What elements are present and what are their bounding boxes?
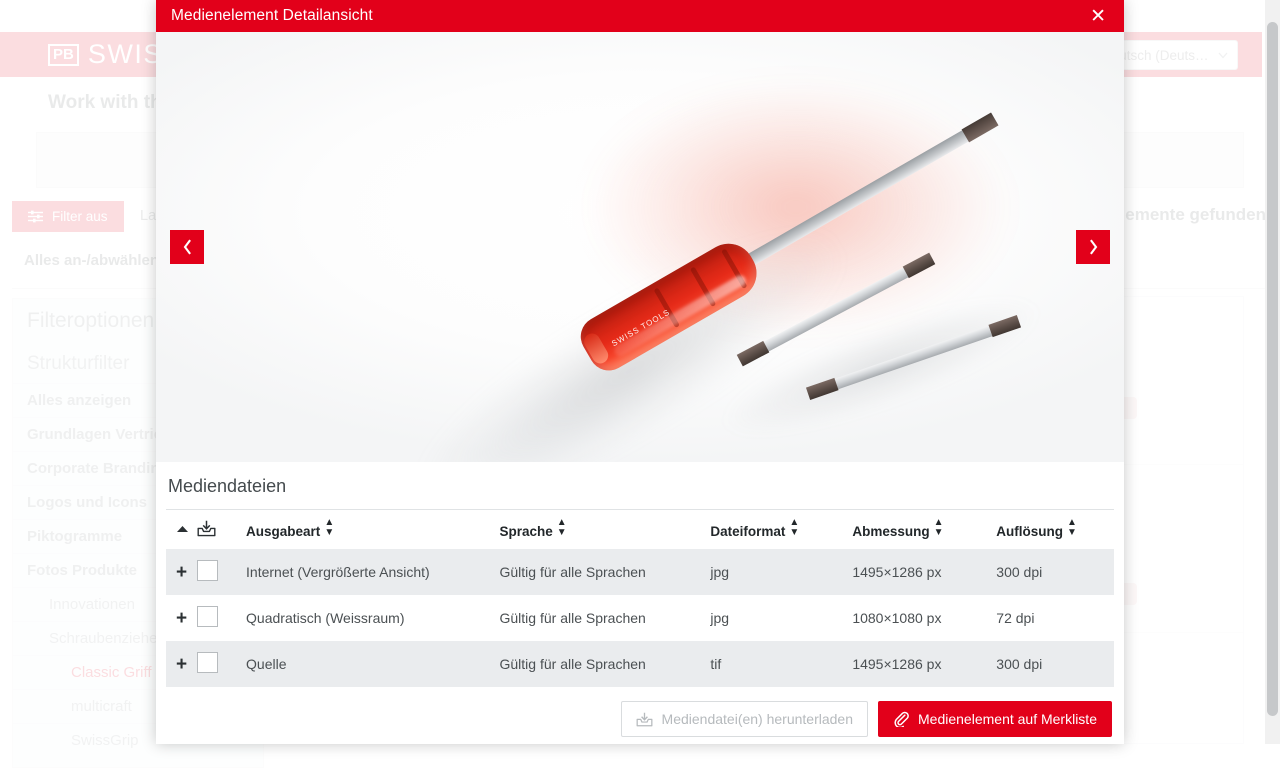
brand-logo-mark: PB — [48, 44, 79, 66]
row-checkbox-cell[interactable] — [193, 595, 242, 641]
download-tray-icon — [197, 520, 216, 537]
filter-tree-item-label: Classic Griff — [71, 664, 152, 681]
cell-abmessung: 1080×1080 px — [848, 595, 992, 641]
column-aufloesung[interactable]: Auflösung▲▼ — [992, 510, 1114, 550]
next-image-button[interactable] — [1076, 230, 1110, 264]
row-checkbox[interactable] — [197, 560, 218, 581]
expand-row-cell[interactable]: + — [166, 549, 193, 595]
sort-icon: ▲▼ — [1067, 518, 1077, 538]
filter-tree-item-label: Innovationen — [49, 596, 135, 613]
filter-tree-item-label: Corporate Branding — [27, 460, 169, 477]
media-files-section: Mediendateien — [156, 462, 1124, 744]
product-photo-illustration: SWISS TOOLS — [156, 32, 1124, 462]
column-expand[interactable] — [166, 510, 193, 550]
column-ausgabeart[interactable]: Ausgabeart▲▼ — [242, 510, 495, 550]
column-download[interactable] — [193, 510, 242, 550]
cell-abmessung: 1495×1286 px — [848, 641, 992, 687]
cell-ausgabeart: Quadratisch (Weissraum) — [242, 595, 495, 641]
table-row[interactable]: +Quadratisch (Weissraum)Gültig für alle … — [166, 595, 1114, 641]
expand-row-icon[interactable]: + — [176, 608, 187, 629]
media-image-viewer: SWISS TOOLS — [156, 32, 1124, 462]
filter-tree-item-label: SwissGrip — [71, 732, 139, 749]
filter-tree-item-label: Alles anzeigen — [27, 392, 131, 409]
cell-sprache: Gültig für alle Sprachen — [496, 549, 707, 595]
download-media-label: Mediendatei(en) herunterladen — [662, 711, 853, 727]
sliders-icon — [28, 210, 43, 223]
filter-tree-item-label: Fotos Produkte — [27, 562, 137, 579]
media-image: SWISS TOOLS — [156, 32, 1124, 462]
cell-abmessung: 1495×1286 px — [848, 549, 992, 595]
column-label: Auflösung — [996, 524, 1063, 539]
filter-tree-item-label: Piktogramme — [27, 528, 122, 545]
select-all-label: Alles an-/abwählen — [24, 252, 159, 269]
cell-aufloesung: 300 dpi — [992, 549, 1114, 595]
column-label: Dateiformat — [710, 524, 785, 539]
table-row[interactable]: +Internet (Vergrößerte Ansicht)Gültig fü… — [166, 549, 1114, 595]
sort-icon: ▲▼ — [557, 518, 567, 538]
chevron-down-icon — [1217, 49, 1229, 61]
filter-tree-item-label: multicraft — [71, 698, 132, 715]
modal-actions: Mediendatei(en) herunterladen Medienelem… — [166, 687, 1114, 737]
filter-toggle-label: Filter aus — [52, 209, 108, 224]
filter-tree-item-label: Schraubenzieher — [49, 630, 162, 647]
media-files-table: Ausgabeart▲▼ Sprache▲▼ Dateiformat▲▼ Abm… — [166, 509, 1114, 687]
cell-format: jpg — [706, 595, 848, 641]
column-dateiformat[interactable]: Dateiformat▲▼ — [706, 510, 848, 550]
download-media-button[interactable]: Mediendatei(en) herunterladen — [621, 701, 868, 737]
add-to-merkliste-label: Medienelement auf Merkliste — [918, 711, 1097, 727]
column-sprache[interactable]: Sprache▲▼ — [496, 510, 707, 550]
download-tray-icon — [636, 712, 653, 727]
cell-aufloesung: 72 dpi — [992, 595, 1114, 641]
cell-sprache: Gültig für alle Sprachen — [496, 641, 707, 687]
row-checkbox[interactable] — [197, 606, 218, 627]
table-header: Ausgabeart▲▼ Sprache▲▼ Dateiformat▲▼ Abm… — [166, 510, 1114, 550]
expand-row-cell[interactable]: + — [166, 595, 193, 641]
page-scrollbar-track[interactable] — [1265, 0, 1280, 744]
table-header-row: Ausgabeart▲▼ Sprache▲▼ Dateiformat▲▼ Abm… — [166, 510, 1114, 550]
cell-ausgabeart: Internet (Vergrößerte Ansicht) — [242, 549, 495, 595]
column-abmessung[interactable]: Abmessung▲▼ — [848, 510, 992, 550]
add-to-merkliste-button[interactable]: Medienelement auf Merkliste — [878, 701, 1112, 737]
table-row[interactable]: +QuelleGültig für alle Sprachentif1495×1… — [166, 641, 1114, 687]
paperclip-icon — [893, 711, 909, 727]
product-brand-text: SWISS TOOLS — [610, 308, 672, 349]
results-count: Elemente gefunden — [1109, 205, 1266, 225]
expand-row-icon[interactable]: + — [176, 562, 187, 583]
column-label: Ausgabeart — [246, 524, 320, 539]
prev-image-button[interactable] — [170, 230, 204, 264]
column-label: Sprache — [500, 524, 553, 539]
chevron-left-icon — [182, 239, 193, 255]
column-label: Abmessung — [852, 524, 929, 539]
sort-icon: ▲▼ — [934, 518, 944, 538]
expand-row-icon[interactable]: + — [176, 654, 187, 675]
sort-icon: ▲▼ — [324, 518, 334, 538]
sort-icon: ▲▼ — [789, 518, 799, 538]
row-checkbox[interactable] — [197, 652, 218, 673]
modal-title: Medienelement Detailansicht — [171, 7, 373, 25]
filter-tree-item-label: Grundlagen Vertrieb — [27, 426, 171, 443]
close-icon[interactable]: ✕ — [1086, 5, 1110, 28]
cell-format: jpg — [706, 549, 848, 595]
expand-row-cell[interactable]: + — [166, 641, 193, 687]
filter-toggle-button[interactable]: Filter aus — [12, 201, 124, 232]
filter-tree-item-label: Logos und Icons — [27, 494, 147, 511]
cell-aufloesung: 300 dpi — [992, 641, 1114, 687]
row-checkbox-cell[interactable] — [193, 641, 242, 687]
media-detail-modal: Medienelement Detailansicht ✕ — [156, 0, 1124, 744]
row-checkbox-cell[interactable] — [193, 549, 242, 595]
cell-format: tif — [706, 641, 848, 687]
cell-ausgabeart: Quelle — [242, 641, 495, 687]
modal-header: Medienelement Detailansicht ✕ — [156, 0, 1124, 32]
chevron-right-icon — [1088, 239, 1099, 255]
page-scrollbar-thumb[interactable] — [1267, 22, 1278, 716]
media-files-title: Mediendateien — [166, 462, 1114, 509]
modal-body: SWISS TOOLS — [156, 32, 1124, 744]
cell-sprache: Gültig für alle Sprachen — [496, 595, 707, 641]
table-body: +Internet (Vergrößerte Ansicht)Gültig fü… — [166, 549, 1114, 687]
caret-up-icon — [176, 525, 189, 533]
